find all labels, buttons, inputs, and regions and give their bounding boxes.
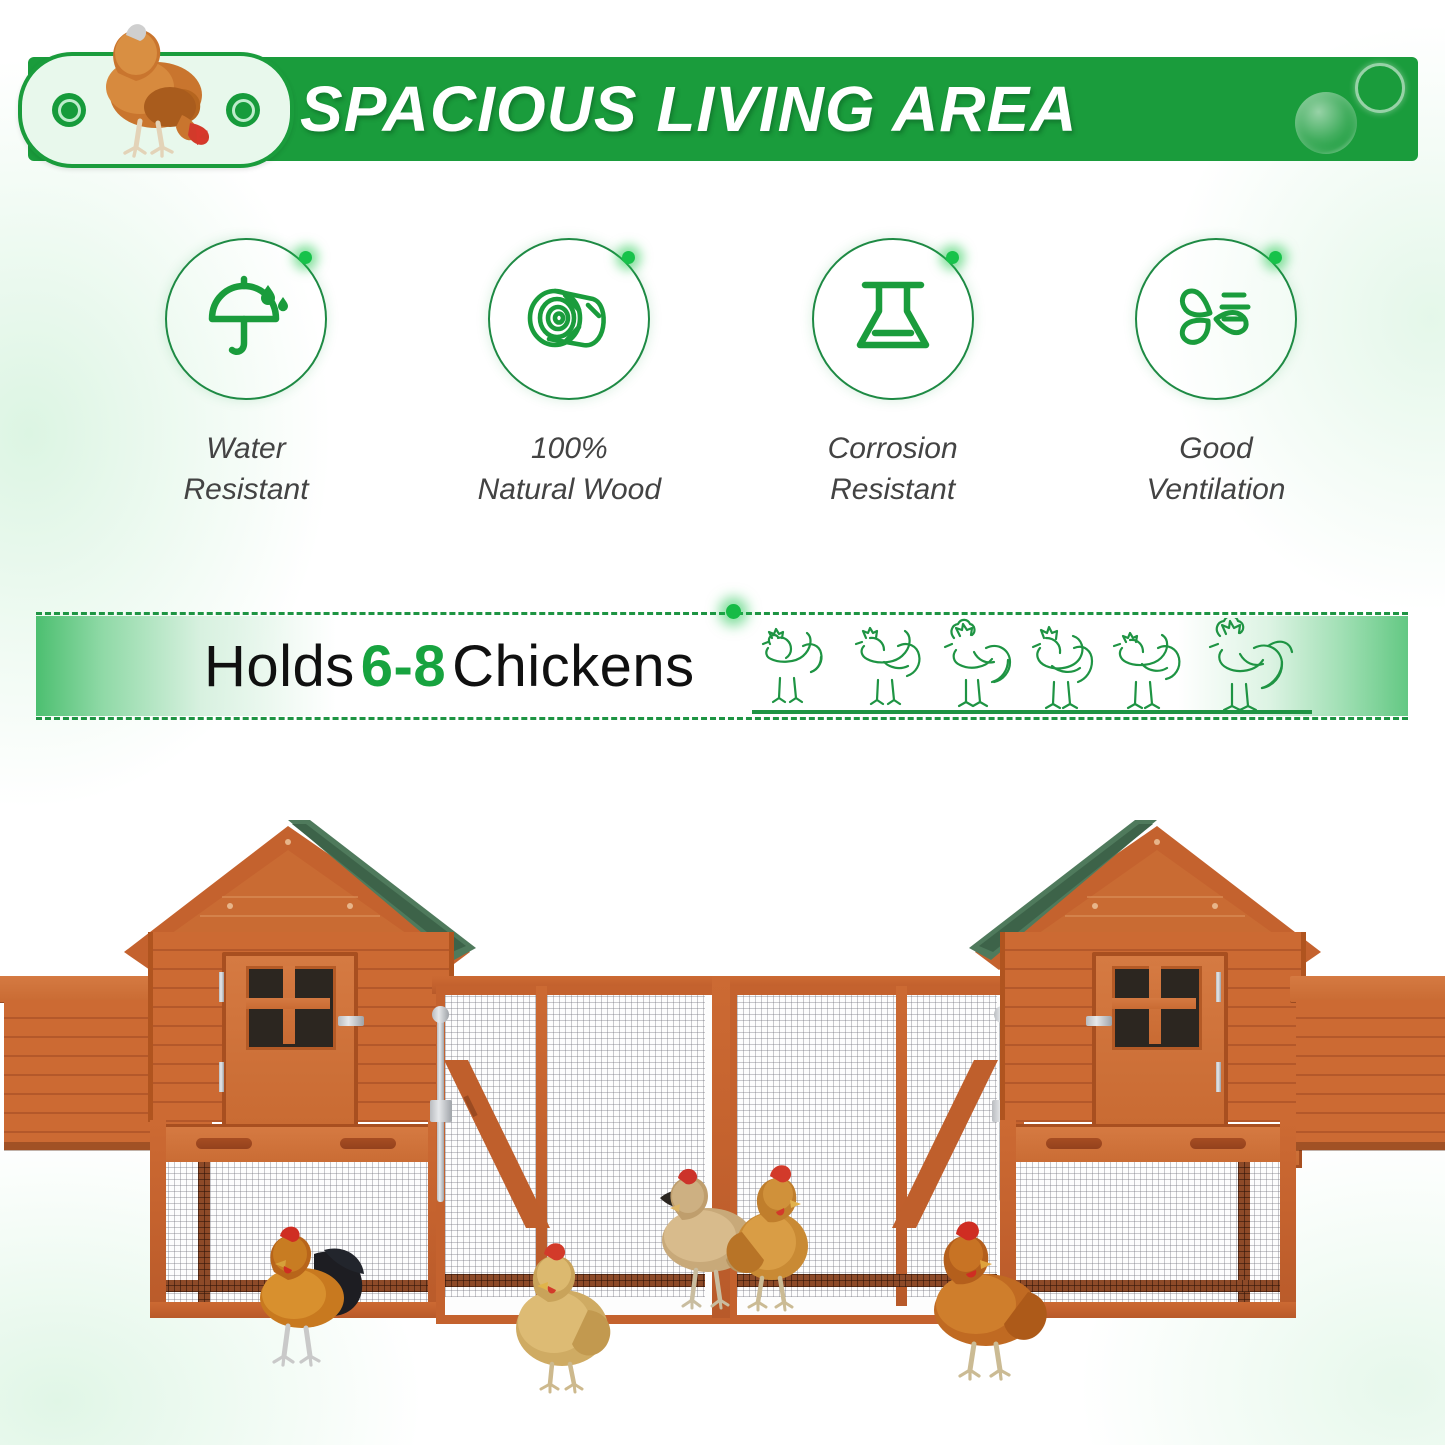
silhouette-baseline: [752, 710, 1312, 714]
feature-icon-circle: [1135, 238, 1297, 400]
feature-label: Good Ventilation: [1146, 428, 1285, 511]
bubble-ring-icon: [1355, 63, 1405, 113]
left-tray-handle-1: [196, 1138, 252, 1149]
center-gate-left-latch-knob[interactable]: [432, 1006, 449, 1023]
right-coop-door-latch[interactable]: [1086, 1016, 1112, 1026]
umbrella-raindrop-icon: [196, 269, 296, 369]
capacity-prefix: Holds: [204, 633, 355, 700]
page-title: SPACIOUS LIVING AREA: [300, 57, 1300, 161]
right-nestbox-body: [1296, 1000, 1445, 1150]
right-run-post-right: [1280, 1120, 1296, 1318]
capacity-suffix: Chickens: [452, 633, 695, 700]
product-image: [0, 780, 1445, 1400]
chicken-photo-1: [240, 1220, 380, 1400]
flask-icon: [843, 269, 943, 369]
feature-icon-circle: [165, 238, 327, 400]
fan-ventilation-icon: [1166, 269, 1266, 369]
left-run-post-left: [150, 1120, 166, 1318]
right-coop-hinge-top: [1216, 972, 1221, 1002]
feature-label: 100% Natural Wood: [478, 428, 661, 511]
feature-list: Water Resistant 100% Natu: [96, 238, 1366, 528]
wood-log-icon: [519, 269, 619, 369]
chicken-silhouette-row: [752, 618, 1312, 716]
right-tray-handle-2: [1190, 1138, 1246, 1149]
feature-label: Corrosion Resistant: [828, 428, 958, 511]
feature-icon-circle: [488, 238, 650, 400]
capacity-count: 6-8: [361, 633, 446, 700]
capacity-text: Holds 6-8 Chickens: [204, 626, 695, 706]
left-coop-door-latch[interactable]: [338, 1016, 364, 1026]
hen-photo-icon: [78, 15, 238, 167]
feature-water-resistant: Water Resistant: [96, 238, 396, 528]
right-tray-handle-1: [1046, 1138, 1102, 1149]
feature-natural-wood: 100% Natural Wood: [419, 238, 719, 528]
chicken-photo-2: [496, 1230, 636, 1400]
right-nestbox-roof: [1290, 976, 1445, 1002]
bubble-large-icon: [1295, 92, 1357, 154]
page-background: SPACIOUS LIVING AREA: [0, 0, 1445, 1445]
center-gate-left-latch-plate[interactable]: [430, 1100, 452, 1122]
chicken-photo-4: [716, 1160, 846, 1330]
window-mullion-h: [1112, 998, 1196, 1009]
left-coop-hinge-bottom: [219, 1062, 224, 1092]
right-coop-hinge-bottom: [1216, 1062, 1221, 1092]
feature-label: Water Resistant: [183, 428, 308, 511]
left-coop-hinge-top: [219, 972, 224, 1002]
feature-good-ventilation: Good Ventilation: [1066, 238, 1366, 528]
chicken-photo-5: [900, 1214, 1060, 1394]
window-mullion-h: [246, 998, 330, 1009]
feature-icon-circle: [812, 238, 974, 400]
glow-dot-icon: [726, 604, 741, 619]
right-nestbox-shadow: [1296, 1142, 1445, 1151]
header-banner: SPACIOUS LIVING AREA: [0, 57, 1445, 167]
left-tray-handle-2: [340, 1138, 396, 1149]
capacity-banner: Holds 6-8 Chickens: [36, 612, 1408, 720]
feature-corrosion-resistant: Corrosion Resistant: [743, 238, 1043, 528]
